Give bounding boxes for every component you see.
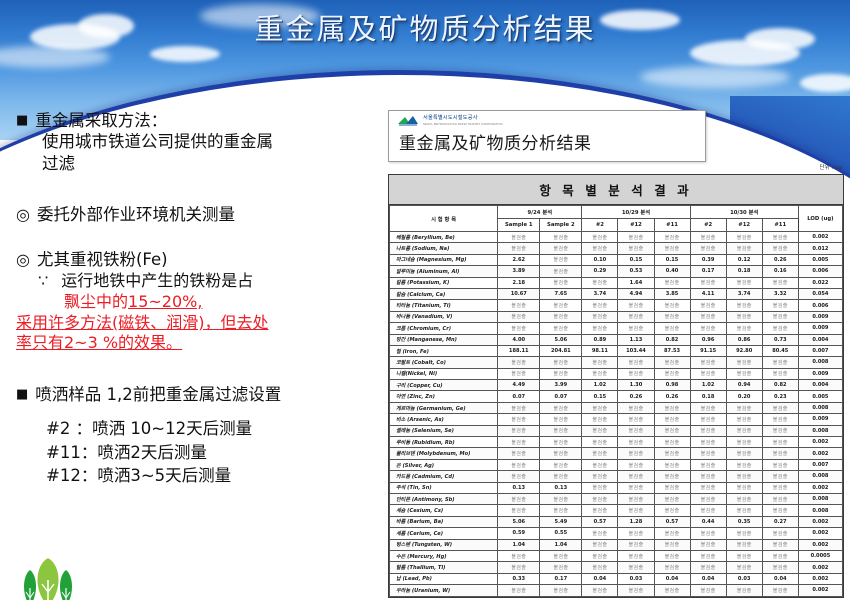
cell-not-detected: 불검출	[618, 300, 654, 311]
row-label: 마그네슘 (Magnesium, Mg)	[390, 254, 498, 265]
cell-lod: 0.004	[798, 380, 842, 391]
sample-item: #11：喷洒2天后测量	[16, 441, 382, 464]
cell-not-detected: 불검출	[726, 448, 762, 459]
cell-not-detected: 불검출	[618, 505, 654, 516]
cell-value: 4.11	[690, 288, 726, 299]
cell-not-detected: 불검출	[498, 402, 540, 413]
table-head: 시 험 항 목 9/24 분석 10/29 분석 10/30 분석 LOD (u…	[390, 206, 843, 232]
cell-not-detected: 불검출	[618, 471, 654, 482]
cell-value: 1.13	[618, 334, 654, 345]
red-underline-percent: 15~20%,	[128, 292, 202, 311]
row-label: 카드뮴 (Cadmium, Cd)	[390, 471, 498, 482]
cell-not-detected: 불검출	[690, 323, 726, 334]
cell-not-detected: 불검출	[498, 243, 540, 254]
col-header-sample1: Sample 1	[498, 219, 540, 232]
cell-not-detected: 불검출	[654, 425, 690, 436]
cell-not-detected: 불검출	[582, 277, 618, 288]
cell-value: 0.26	[618, 391, 654, 402]
cell-not-detected: 불검출	[690, 448, 726, 459]
cell-not-detected: 불검출	[654, 368, 690, 379]
cell-value: 87.53	[654, 345, 690, 356]
cell-not-detected: 불검출	[690, 528, 726, 539]
cell-value: 0.07	[498, 391, 540, 402]
cell-value: 98.11	[582, 345, 618, 356]
cell-not-detected: 불검출	[762, 243, 798, 254]
row-label: 나트륨 (Sodium, Na)	[390, 243, 498, 254]
cell-value: 4.49	[498, 380, 540, 391]
cell-not-detected: 불검출	[582, 232, 618, 243]
table-row: 티타늄 (Titanium, Ti)불검출불검출불검출불검출불검출불검출불검출불…	[390, 300, 843, 311]
cell-not-detected: 불검출	[498, 232, 540, 243]
col-header-1029-11: #11	[654, 219, 690, 232]
cell-not-detected: 불검출	[690, 425, 726, 436]
cell-value: 0.15	[618, 254, 654, 265]
section-spray-samples: 喷洒样品 1,2前把重金属过滤设置 #2 ：喷洒 10~12天后测量 #11：喷…	[16, 384, 382, 487]
table-row: 바륨 (Barium, Ba)5.065.490.571.280.570.440…	[390, 516, 843, 527]
col-group-1030: 10/30 분석	[690, 206, 798, 219]
cell-not-detected: 불검출	[498, 300, 540, 311]
spacer	[16, 405, 382, 417]
cell-not-detected: 불검출	[618, 528, 654, 539]
cell-not-detected: 불검출	[582, 539, 618, 550]
col-header-sample2: Sample 2	[540, 219, 582, 232]
cell-value: 0.73	[762, 334, 798, 345]
table-row: 망간 (Manganese, Mn)4.005.060.891.130.820.…	[390, 334, 843, 345]
table-body: 베릴륨 (Beryllium, Be)불검출불검출불검출불검출불검출불검출불검출…	[390, 232, 843, 597]
spacer	[16, 178, 382, 204]
cell-not-detected: 불검출	[690, 232, 726, 243]
cell-value: 91.15	[690, 345, 726, 356]
cell-value: 1.04	[540, 539, 582, 550]
cell-value: 3.99	[540, 380, 582, 391]
cell-not-detected: 불검출	[690, 550, 726, 561]
cell-not-detected: 불검출	[654, 311, 690, 322]
cell-value: 0.23	[762, 391, 798, 402]
cell-not-detected: 불검출	[726, 493, 762, 504]
section3-reason-text: 运行地铁中产生的铁粉是占	[61, 271, 253, 290]
cell-value: 1.02	[582, 380, 618, 391]
cell-value: 0.98	[654, 380, 690, 391]
cell-not-detected: 불검출	[618, 311, 654, 322]
cell-not-detected: 불검출	[726, 505, 762, 516]
cell-not-detected: 불검출	[690, 402, 726, 413]
cell-value: 80.45	[762, 345, 798, 356]
cell-value: 7.65	[540, 288, 582, 299]
table-row: 마그네슘 (Magnesium, Mg)2.62불검출0.100.150.150…	[390, 254, 843, 265]
cell-not-detected: 불검출	[726, 402, 762, 413]
cell-not-detected: 불검출	[654, 402, 690, 413]
cell-not-detected: 불검출	[618, 357, 654, 368]
cell-lod: 0.002	[798, 573, 842, 584]
cell-lod: 0.005	[798, 391, 842, 402]
table-row: 카드뮴 (Cadmium, Cd)불검출불검출불검출불검출불검출불검출불검출불검…	[390, 471, 843, 482]
cell-not-detected: 불검출	[540, 357, 582, 368]
cell-not-detected: 불검출	[654, 300, 690, 311]
row-label: 세슘 (Cesium, Cs)	[390, 505, 498, 516]
cell-not-detected: 불검출	[498, 323, 540, 334]
cloud-shape	[0, 46, 110, 68]
cell-value: 0.15	[654, 254, 690, 265]
cell-lod: 0.002	[798, 528, 842, 539]
cell-value: 0.57	[654, 516, 690, 527]
cell-value: 2.18	[498, 277, 540, 288]
cell-not-detected: 불검출	[762, 528, 798, 539]
cell-not-detected: 불검출	[540, 266, 582, 277]
table-row: 텅스텐 (Tungsten, W)1.041.04불검출불검출불검출불검출불검출…	[390, 539, 843, 550]
row-label: 납 (Lead, Pb)	[390, 573, 498, 584]
cell-not-detected: 불검출	[582, 448, 618, 459]
cell-not-detected: 불검출	[582, 562, 618, 573]
cell-not-detected: 불검출	[654, 459, 690, 470]
cell-not-detected: 불검출	[690, 505, 726, 516]
page-title: 重金属及矿物质分析结果	[0, 6, 850, 48]
row-label: 베릴륨 (Beryllium, Be)	[390, 232, 498, 243]
table-row: 아연 (Zinc, Zn)0.070.070.150.260.260.180.2…	[390, 391, 843, 402]
cell-not-detected: 불검출	[654, 528, 690, 539]
cell-not-detected: 불검출	[540, 459, 582, 470]
cell-value: 2.62	[498, 254, 540, 265]
cell-value: 3.89	[498, 266, 540, 277]
logo-company-subtitle: SEOUL METROPOLITAN RAPID TRANSIT CORPORA…	[423, 122, 503, 126]
section3-red-line2: 采用许多方法(磁铁、润滑)，但去处	[16, 313, 382, 334]
section1-line2: 过滤	[16, 153, 382, 174]
cell-lod: 0.009	[798, 311, 842, 322]
cell-not-detected: 불검출	[582, 471, 618, 482]
cell-value: 3.85	[654, 288, 690, 299]
cell-not-detected: 불검출	[498, 368, 540, 379]
cell-not-detected: 불검출	[618, 550, 654, 561]
row-label: 게르마늄 (Germanium, Ge)	[390, 402, 498, 413]
cell-not-detected: 불검출	[540, 425, 582, 436]
cell-not-detected: 불검출	[498, 311, 540, 322]
cell-value: 0.94	[726, 380, 762, 391]
cell-not-detected: 불검출	[618, 437, 654, 448]
cell-not-detected: 불검출	[762, 437, 798, 448]
cell-not-detected: 불검출	[498, 505, 540, 516]
table-row: 크롬 (Chromium, Cr)불검출불검출불검출불검출불검출불검출불검출불검…	[390, 323, 843, 334]
red-text-part1: 飘尘中的	[64, 292, 128, 311]
cell-not-detected: 불검출	[726, 528, 762, 539]
col-header-1030-2: #2	[690, 219, 726, 232]
table-row: 칼슘 (Calcium, Ca)10.677.653.744.943.854.1…	[390, 288, 843, 299]
cell-not-detected: 불검출	[762, 311, 798, 322]
cell-value: 1.04	[498, 539, 540, 550]
left-content-column: 重金属采取方法： 使用城市铁道公司提供的重金属 过滤 委托外部作业环境机关测量 …	[16, 110, 382, 590]
cell-value: 0.07	[540, 391, 582, 402]
cell-not-detected: 불검출	[654, 243, 690, 254]
table-row: 니켈(Nickel, Ni)불검출불검출불검출불검출불검출불검출불검출불검출0.…	[390, 368, 843, 379]
cell-value: 4.00	[498, 334, 540, 345]
cell-value: 1.28	[618, 516, 654, 527]
cell-not-detected: 불검출	[498, 585, 540, 596]
cell-not-detected: 불검출	[618, 402, 654, 413]
table-row: 비소 (Arsenic, As)불검출불검출불검출불검출불검출불검출불검출불검출…	[390, 414, 843, 425]
cell-value: 0.44	[690, 516, 726, 527]
row-label: 니켈(Nickel, Ni)	[390, 368, 498, 379]
cell-value: 0.17	[540, 573, 582, 584]
cell-value: 92.80	[726, 345, 762, 356]
cell-not-detected: 불검출	[726, 459, 762, 470]
cell-not-detected: 불검출	[582, 550, 618, 561]
cell-not-detected: 불검출	[582, 425, 618, 436]
cell-lod: 0.002	[798, 585, 842, 596]
cell-not-detected: 불검출	[582, 368, 618, 379]
cell-value: 0.04	[654, 573, 690, 584]
cell-lod: 0.006	[798, 266, 842, 277]
cell-not-detected: 불검출	[498, 425, 540, 436]
cell-not-detected: 불검출	[726, 323, 762, 334]
table-row: 셀레늄 (Selenium, Se)불검출불검출불검출불검출불검출불검출불검출불…	[390, 425, 843, 436]
cell-not-detected: 불검출	[690, 311, 726, 322]
cell-value: 0.20	[726, 391, 762, 402]
row-label: 바나듐 (Vanadium, V)	[390, 311, 498, 322]
table-row: 바나듐 (Vanadium, V)불검출불검출불검출불검출불검출불검출불검출불검…	[390, 311, 843, 322]
analysis-results-table-container: 항 목 별 분 석 결 과 시 험 항 목 9/24 분석 10/29 분석 1…	[388, 174, 844, 598]
cell-not-detected: 불검출	[654, 482, 690, 493]
table-row: 베릴륨 (Beryllium, Be)불검출불검출불검출불검출불검출불검출불검출…	[390, 232, 843, 243]
cell-value: 3.74	[726, 288, 762, 299]
cell-not-detected: 불검출	[762, 277, 798, 288]
cell-not-detected: 불검출	[762, 482, 798, 493]
analysis-results-table: 시 험 항 목 9/24 분석 10/29 분석 10/30 분석 LOD (u…	[389, 205, 843, 597]
cell-not-detected: 불검출	[618, 459, 654, 470]
cell-not-detected: 불검출	[726, 232, 762, 243]
cell-not-detected: 불검출	[726, 437, 762, 448]
row-label: 알루미늄 (Aluminum, Al)	[390, 266, 498, 277]
cell-value: 0.53	[618, 266, 654, 277]
cell-not-detected: 불검출	[690, 277, 726, 288]
row-label: 아연 (Zinc, Zn)	[390, 391, 498, 402]
cell-value: 0.55	[540, 528, 582, 539]
cell-not-detected: 불검출	[582, 311, 618, 322]
cell-not-detected: 불검출	[618, 243, 654, 254]
cell-not-detected: 불검출	[498, 493, 540, 504]
table-row: 세슘 (Cesium, Cs)불검출불검출불검출불검출불검출불검출불검출불검출0…	[390, 505, 843, 516]
cell-lod: 0.008	[798, 505, 842, 516]
cell-not-detected: 불검출	[762, 505, 798, 516]
cell-not-detected: 불검출	[762, 493, 798, 504]
cell-not-detected: 불검출	[582, 493, 618, 504]
cell-lod: 0.002	[798, 482, 842, 493]
cell-not-detected: 불검출	[690, 562, 726, 573]
cell-not-detected: 불검출	[762, 459, 798, 470]
cell-not-detected: 불검출	[654, 539, 690, 550]
company-logo: 서울특별시도시철도공사 SEOUL METROPOLITAN RAPID TRA…	[397, 115, 503, 126]
cell-not-detected: 불검출	[498, 550, 540, 561]
cell-not-detected: 불검출	[540, 505, 582, 516]
cell-not-detected: 불검출	[726, 562, 762, 573]
section3-red-line1: 飘尘中的15~20%,	[16, 292, 382, 313]
cell-lod: 0.002	[798, 437, 842, 448]
cell-value: 0.15	[582, 391, 618, 402]
cell-lod: 0.007	[798, 345, 842, 356]
cell-not-detected: 불검출	[726, 277, 762, 288]
cell-not-detected: 불검출	[762, 471, 798, 482]
cell-lod: 0.002	[798, 562, 842, 573]
row-label: 은 (Silver, Ag)	[390, 459, 498, 470]
table-row: 코발트 (Cobalt, Co)불검출불검출불검출불검출불검출불검출불검출불검출…	[390, 357, 843, 368]
unit-note: 단위 : ug	[820, 163, 842, 171]
row-label: 티타늄 (Titanium, Ti)	[390, 300, 498, 311]
cell-not-detected: 불검출	[618, 482, 654, 493]
cell-value: 5.06	[498, 516, 540, 527]
cell-value: 0.17	[690, 266, 726, 277]
slide-canvas: 重金属及矿物质分析结果 重金属采取方法： 使用城市铁道公司提供的重金属 过滤 委…	[0, 0, 850, 600]
cell-not-detected: 불검출	[654, 414, 690, 425]
cell-lod: 0.022	[798, 277, 842, 288]
cell-not-detected: 불검출	[540, 368, 582, 379]
table-row: 납 (Lead, Pb)0.330.170.040.030.040.040.03…	[390, 573, 843, 584]
table-row: 수은 (Mercury, Hg)불검출불검출불검출불검출불검출불검출불검출불검출…	[390, 550, 843, 561]
table-row: 세륨 (Cerium, Ce)0.590.55불검출불검출불검출불검출불검출불검…	[390, 528, 843, 539]
table-row: 나트륨 (Sodium, Na)불검출불검출불검출불검출불검출불검출불검출불검출…	[390, 243, 843, 254]
cell-not-detected: 불검출	[726, 357, 762, 368]
row-label: 몰리브덴 (Molybdenum, Mo)	[390, 448, 498, 459]
cell-value: 0.96	[690, 334, 726, 345]
cell-not-detected: 불검출	[582, 585, 618, 596]
cell-lod: 0.002	[798, 232, 842, 243]
cell-value: 0.26	[762, 254, 798, 265]
cell-not-detected: 불검출	[618, 425, 654, 436]
cell-lod: 0.002	[798, 448, 842, 459]
cell-not-detected: 불검출	[762, 414, 798, 425]
cell-not-detected: 불검출	[690, 368, 726, 379]
because-symbol: ∵	[38, 271, 48, 290]
cell-not-detected: 불검출	[540, 448, 582, 459]
cell-not-detected: 불검출	[690, 585, 726, 596]
cell-lod: 0.004	[798, 334, 842, 345]
table-row: 안티몬 (Antimony, Sb)불검출불검출불검출불검출불검출불검출불검출불…	[390, 493, 843, 504]
row-label: 구리 (Copper, Cu)	[390, 380, 498, 391]
cell-lod: 0.009	[798, 414, 842, 425]
cell-not-detected: 불검출	[690, 300, 726, 311]
table-row: 철 (Iron, Fe)188.11204.8198.11103.4487.53…	[390, 345, 843, 356]
table-row: 은 (Silver, Ag)불검출불검출불검출불검출불검출불검출불검출불검출0.…	[390, 459, 843, 470]
cell-value: 5.49	[540, 516, 582, 527]
cell-not-detected: 불검출	[726, 471, 762, 482]
cell-lod: 0.008	[798, 402, 842, 413]
cell-not-detected: 불검출	[618, 323, 654, 334]
table-row: 몰리브덴 (Molybdenum, Mo)불검출불검출불검출불검출불검출불검출불…	[390, 448, 843, 459]
cell-not-detected: 불검출	[654, 277, 690, 288]
cell-not-detected: 불검출	[726, 425, 762, 436]
cell-not-detected: 불검출	[540, 550, 582, 561]
spacer	[16, 358, 382, 384]
cell-not-detected: 불검출	[540, 311, 582, 322]
cell-lod: 0.002	[798, 539, 842, 550]
cell-not-detected: 불검출	[762, 402, 798, 413]
cell-value: 0.89	[582, 334, 618, 345]
cell-not-detected: 불검출	[762, 323, 798, 334]
section4-heading: 喷洒样品 1,2前把重金属过滤设置	[16, 384, 382, 405]
cell-not-detected: 불검출	[540, 243, 582, 254]
cell-not-detected: 불검출	[618, 414, 654, 425]
cell-value: 1.02	[690, 380, 726, 391]
cell-not-detected: 불검출	[540, 300, 582, 311]
cell-not-detected: 불검출	[690, 243, 726, 254]
cell-not-detected: 불검출	[540, 437, 582, 448]
cell-not-detected: 불검출	[726, 243, 762, 254]
cell-value: 0.35	[726, 516, 762, 527]
cell-not-detected: 불검출	[690, 459, 726, 470]
row-label: 비소 (Arsenic, As)	[390, 414, 498, 425]
cell-lod: 0.012	[798, 243, 842, 254]
cell-not-detected: 불검출	[498, 414, 540, 425]
section1-heading: 重金属采取方法：	[16, 110, 382, 131]
cell-not-detected: 불검출	[726, 539, 762, 550]
cell-value: 1.64	[618, 277, 654, 288]
cell-value: 0.13	[540, 482, 582, 493]
cell-value: 0.57	[582, 516, 618, 527]
cell-not-detected: 불검출	[582, 459, 618, 470]
cell-not-detected: 불검출	[654, 357, 690, 368]
cell-value: 0.29	[582, 266, 618, 277]
row-label: 주석 (Tin, Sn)	[390, 482, 498, 493]
cell-not-detected: 불검출	[690, 482, 726, 493]
col-header-1029-2: #2	[582, 219, 618, 232]
cell-value: 0.03	[618, 573, 654, 584]
cell-value: 0.18	[690, 391, 726, 402]
cell-value: 0.27	[762, 516, 798, 527]
table-row: 알루미늄 (Aluminum, Al)3.89불검출0.290.530.400.…	[390, 266, 843, 277]
cell-value: 0.82	[762, 380, 798, 391]
cell-value: 10.67	[498, 288, 540, 299]
cell-not-detected: 불검출	[582, 528, 618, 539]
section3-red-line3: 率只有2~3 %的效果。	[16, 333, 382, 354]
col-header-item: 시 험 항 목	[390, 206, 498, 232]
cell-not-detected: 불검출	[540, 232, 582, 243]
cell-not-detected: 불검출	[762, 300, 798, 311]
cell-not-detected: 불검출	[540, 254, 582, 265]
cell-value: 0.39	[690, 254, 726, 265]
row-label: 칼륨 (Potassium, K)	[390, 277, 498, 288]
col-group-0924: 9/24 분석	[498, 206, 582, 219]
cell-not-detected: 불검출	[690, 414, 726, 425]
cell-not-detected: 불검출	[654, 471, 690, 482]
cell-not-detected: 불검출	[540, 562, 582, 573]
cell-not-detected: 불검출	[726, 550, 762, 561]
panel-title-text: 重金属及矿物质分析结果	[399, 129, 592, 154]
row-label: 크롬 (Chromium, Cr)	[390, 323, 498, 334]
table-row: 우라늄 (Uranium, W)불검출불검출불검출불검출불검출불검출불검출불검출…	[390, 585, 843, 596]
table-row: 탈륨 (Thallium, Tl)불검출불검출불검출불검출불검출불검출불검출불검…	[390, 562, 843, 573]
cell-lod: 0.002	[798, 516, 842, 527]
cell-not-detected: 불검출	[582, 243, 618, 254]
cell-value: 204.81	[540, 345, 582, 356]
cell-not-detected: 불검출	[690, 357, 726, 368]
row-label: 코발트 (Cobalt, Co)	[390, 357, 498, 368]
cell-not-detected: 불검출	[618, 585, 654, 596]
cell-not-detected: 불검출	[540, 471, 582, 482]
table-row: 구리 (Copper, Cu)4.493.991.021.300.981.020…	[390, 380, 843, 391]
cell-not-detected: 불검출	[654, 232, 690, 243]
cell-value: 0.04	[690, 573, 726, 584]
cell-value: 0.16	[762, 266, 798, 277]
col-header-1030-11: #11	[762, 219, 798, 232]
cell-not-detected: 불검출	[654, 550, 690, 561]
row-label: 세륨 (Cerium, Ce)	[390, 528, 498, 539]
cell-not-detected: 불검출	[540, 414, 582, 425]
cell-not-detected: 불검출	[618, 493, 654, 504]
cell-not-detected: 불검출	[498, 562, 540, 573]
cell-not-detected: 불검출	[498, 471, 540, 482]
section3-heading: 尤其重视铁粉(Fe)	[16, 249, 382, 270]
cell-not-detected: 불검출	[762, 232, 798, 243]
section3-reason-line1: ∵ 运行地铁中产生的铁粉是占	[16, 271, 382, 292]
cell-value: 0.40	[654, 266, 690, 277]
cell-not-detected: 불검출	[654, 505, 690, 516]
row-label: 칼슘 (Calcium, Ca)	[390, 288, 498, 299]
